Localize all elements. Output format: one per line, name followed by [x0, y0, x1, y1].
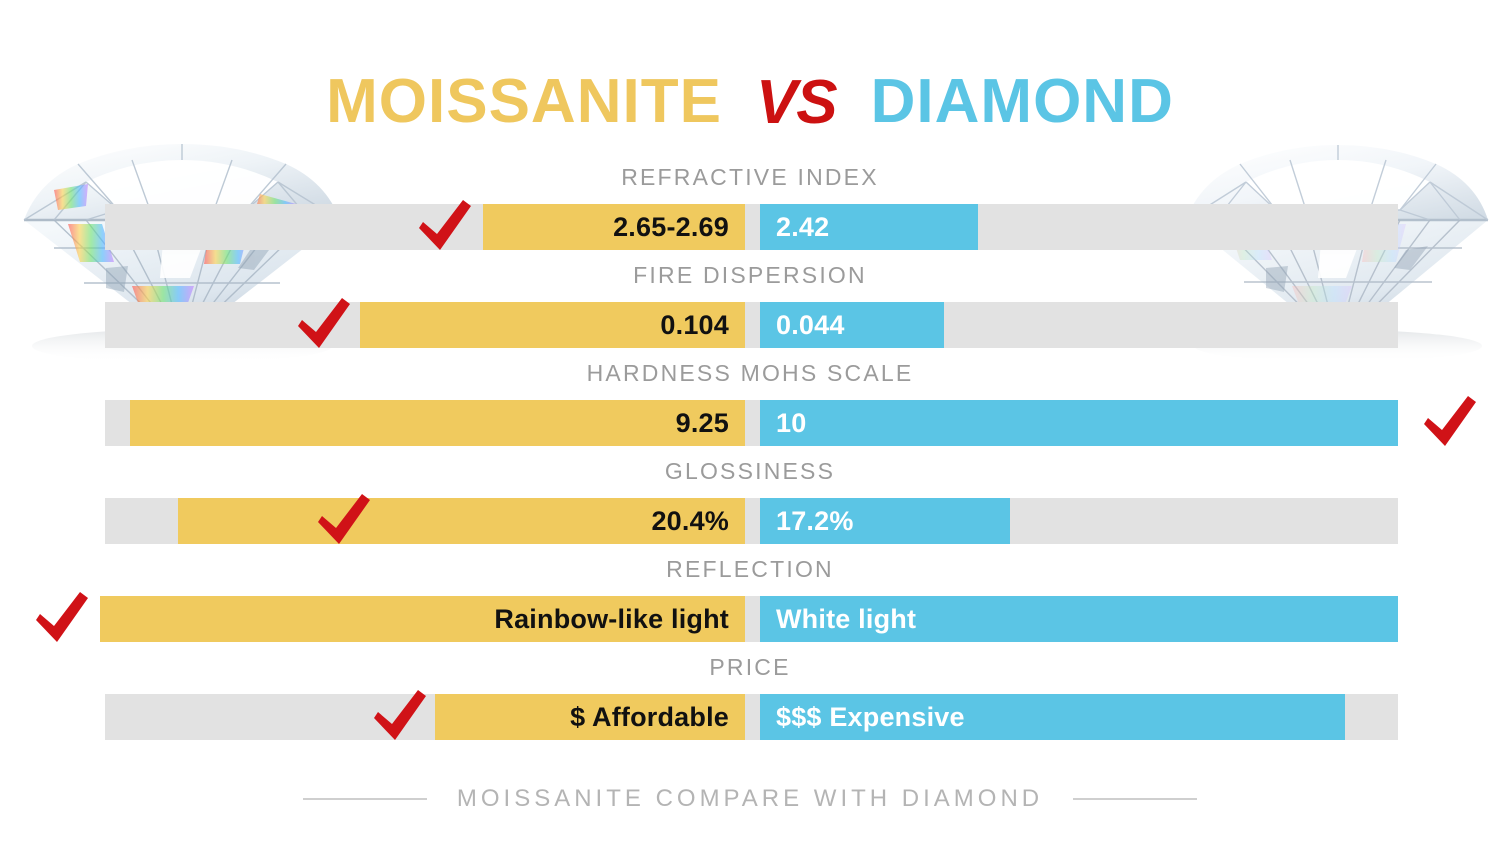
- moissanite-value: $ Affordable: [570, 704, 729, 731]
- moissanite-bar[interactable]: 20.4%: [178, 498, 745, 544]
- winner-check-icon: [312, 488, 376, 552]
- moissanite-bar[interactable]: 2.65-2.69: [483, 204, 745, 250]
- comparison-rows: REFRACTIVE INDEX 2.65-2.69 2.42 FIRE DIS…: [0, 0, 1500, 850]
- footer: MOISSANITE COMPARE WITH DIAMOND: [0, 778, 1500, 820]
- moissanite-value: 20.4%: [651, 508, 729, 535]
- diamond-bar[interactable]: $$$ Expensive: [760, 694, 1345, 740]
- diamond-value: $$$ Expensive: [776, 704, 965, 731]
- diamond-bar[interactable]: 0.044: [760, 302, 944, 348]
- comparison-row-price: PRICE $ Affordable $$$ Expensive: [0, 654, 1500, 752]
- comparison-row-reflection: REFLECTION Rainbow-like light White ligh…: [0, 556, 1500, 654]
- footer-caption: MOISSANITE COMPARE WITH DIAMOND: [457, 785, 1043, 813]
- diamond-value: 0.044: [776, 312, 845, 339]
- moissanite-bar[interactable]: $ Affordable: [435, 694, 745, 740]
- row-label: PRICE: [0, 654, 1500, 681]
- row-track: [105, 204, 1398, 250]
- footer-rule-right: [1073, 798, 1197, 800]
- moissanite-bar[interactable]: Rainbow-like light: [100, 596, 745, 642]
- diamond-bar[interactable]: White light: [760, 596, 1398, 642]
- comparison-row-fire-dispersion: FIRE DISPERSION 0.104 0.044: [0, 262, 1500, 360]
- row-label: REFRACTIVE INDEX: [0, 164, 1500, 191]
- winner-check-icon: [30, 586, 94, 650]
- moissanite-value: 2.65-2.69: [613, 214, 729, 241]
- winner-check-icon: [1418, 390, 1482, 454]
- winner-check-icon: [292, 292, 356, 356]
- row-label: FIRE DISPERSION: [0, 262, 1500, 289]
- row-label: REFLECTION: [0, 556, 1500, 583]
- comparison-row-glossiness: GLOSSINESS 20.4% 17.2%: [0, 458, 1500, 556]
- moissanite-value: Rainbow-like light: [494, 606, 729, 633]
- diamond-value: 17.2%: [776, 508, 854, 535]
- winner-check-icon: [368, 684, 432, 748]
- moissanite-bar[interactable]: 0.104: [360, 302, 745, 348]
- moissanite-value: 0.104: [660, 312, 729, 339]
- diamond-value: White light: [776, 606, 916, 633]
- row-label: HARDNESS MOHS SCALE: [0, 360, 1500, 387]
- diamond-bar[interactable]: 10: [760, 400, 1398, 446]
- diamond-value: 2.42: [776, 214, 829, 241]
- footer-rule-left: [303, 798, 427, 800]
- infographic-canvas: MOISSANITE VS DIAMOND: [0, 0, 1500, 850]
- diamond-value: 10: [776, 410, 806, 437]
- diamond-bar[interactable]: 2.42: [760, 204, 978, 250]
- moissanite-value: 9.25: [676, 410, 729, 437]
- comparison-row-refractive-index: REFRACTIVE INDEX 2.65-2.69 2.42: [0, 164, 1500, 262]
- winner-check-icon: [413, 194, 477, 258]
- comparison-row-hardness-mohs-scale: HARDNESS MOHS SCALE 9.25 10: [0, 360, 1500, 458]
- diamond-bar[interactable]: 17.2%: [760, 498, 1010, 544]
- row-label: GLOSSINESS: [0, 458, 1500, 485]
- moissanite-bar[interactable]: 9.25: [130, 400, 745, 446]
